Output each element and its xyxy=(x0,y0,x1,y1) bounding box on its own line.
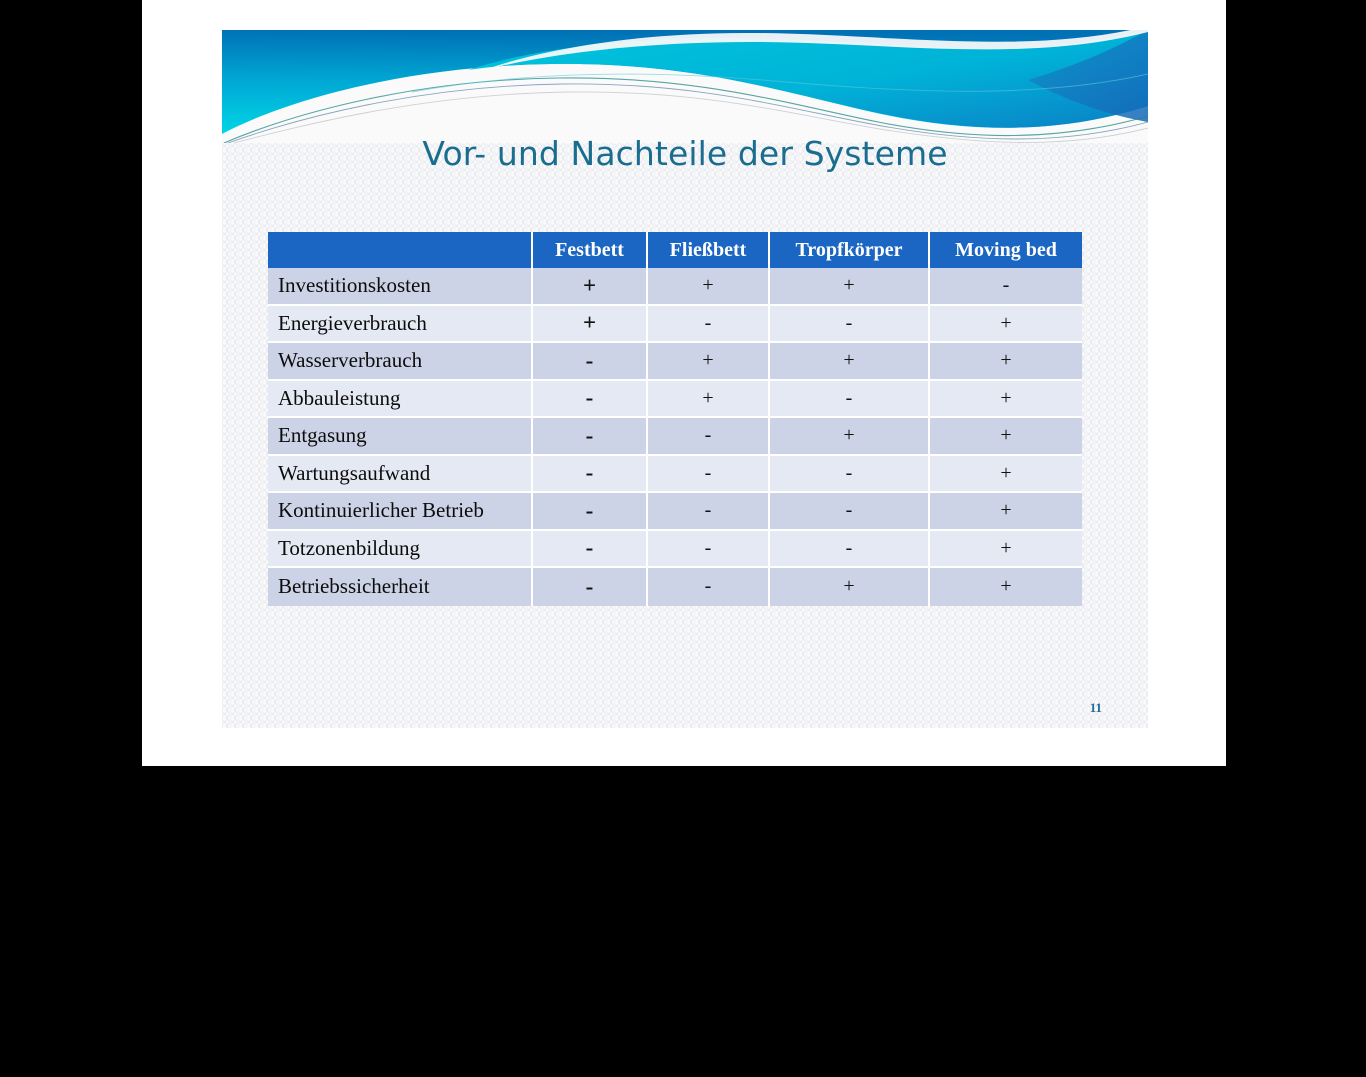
cell-tropfkoerper: - xyxy=(770,381,930,419)
header-wave-decoration xyxy=(222,30,1148,143)
cell-movingbed: + xyxy=(930,493,1082,531)
cell-tropfkoerper: + xyxy=(770,418,930,456)
cell-tropfkoerper: - xyxy=(770,456,930,494)
cell-movingbed: + xyxy=(930,568,1082,606)
cell-movingbed: + xyxy=(930,381,1082,419)
table-row: Wartungsaufwand - - - + xyxy=(268,456,1082,494)
row-label: Entgasung xyxy=(268,418,533,456)
row-label: Betriebssicherheit xyxy=(268,568,533,606)
cell-festbett: - xyxy=(533,343,648,381)
row-label: Abbauleistung xyxy=(268,381,533,419)
cell-tropfkoerper: - xyxy=(770,531,930,569)
table-row: Wasserverbrauch - + + + xyxy=(268,343,1082,381)
row-label: Wasserverbrauch xyxy=(268,343,533,381)
cell-movingbed: + xyxy=(930,418,1082,456)
row-label: Kontinuierlicher Betrieb xyxy=(268,493,533,531)
cell-fliessbett: + xyxy=(648,343,770,381)
cell-festbett: - xyxy=(533,531,648,569)
systems-comparison-table: Festbett Fließbett Tropfkörper Moving be… xyxy=(268,232,1082,606)
cell-festbett: - xyxy=(533,381,648,419)
cell-festbett: - xyxy=(533,418,648,456)
column-header-fliessbett: Fließbett xyxy=(648,232,770,268)
cell-fliessbett: + xyxy=(648,268,770,306)
row-label: Investitionskosten xyxy=(268,268,533,306)
cell-fliessbett: - xyxy=(648,531,770,569)
cell-festbett: + xyxy=(533,306,648,344)
table-header-row: Festbett Fließbett Tropfkörper Moving be… xyxy=(268,232,1082,268)
cell-festbett: - xyxy=(533,456,648,494)
slide-number: 11 xyxy=(1090,700,1102,716)
slide-paper-frame: Vor- und Nachteile der Systeme Festbett … xyxy=(142,0,1226,766)
column-header-tropfkoerper: Tropfkörper xyxy=(770,232,930,268)
cell-tropfkoerper: - xyxy=(770,493,930,531)
cell-movingbed: + xyxy=(930,306,1082,344)
cell-tropfkoerper: + xyxy=(770,268,930,306)
cell-festbett: - xyxy=(533,493,648,531)
table-row: Abbauleistung - + - + xyxy=(268,381,1082,419)
table-row: Energieverbrauch + - - + xyxy=(268,306,1082,344)
table-row: Betriebssicherheit - - + + xyxy=(268,568,1082,606)
cell-fliessbett: - xyxy=(648,493,770,531)
cell-festbett: - xyxy=(533,568,648,606)
cell-fliessbett: + xyxy=(648,381,770,419)
cell-movingbed: + xyxy=(930,456,1082,494)
cell-tropfkoerper: + xyxy=(770,343,930,381)
table-row: Entgasung - - + + xyxy=(268,418,1082,456)
cell-movingbed: + xyxy=(930,343,1082,381)
table-row: Kontinuierlicher Betrieb - - - + xyxy=(268,493,1082,531)
cell-fliessbett: - xyxy=(648,456,770,494)
cell-movingbed: + xyxy=(930,531,1082,569)
page-title: Vor- und Nachteile der Systeme xyxy=(222,134,1148,173)
cell-tropfkoerper: + xyxy=(770,568,930,606)
cell-fliessbett: - xyxy=(648,568,770,606)
column-header-festbett: Festbett xyxy=(533,232,648,268)
row-label: Energieverbrauch xyxy=(268,306,533,344)
cell-festbett: + xyxy=(533,268,648,306)
column-header-criterion xyxy=(268,232,533,268)
row-label: Wartungsaufwand xyxy=(268,456,533,494)
row-label: Totzonenbildung xyxy=(268,531,533,569)
column-header-movingbed: Moving bed xyxy=(930,232,1082,268)
table-header: Festbett Fließbett Tropfkörper Moving be… xyxy=(268,232,1082,268)
table-body: Investitionskosten + + + - Energieverbra… xyxy=(268,268,1082,606)
presentation-slide: Vor- und Nachteile der Systeme Festbett … xyxy=(222,30,1148,728)
table-row: Investitionskosten + + + - xyxy=(268,268,1082,306)
cell-fliessbett: - xyxy=(648,306,770,344)
cell-fliessbett: - xyxy=(648,418,770,456)
cell-movingbed: - xyxy=(930,268,1082,306)
table-row: Totzonenbildung - - - + xyxy=(268,531,1082,569)
cell-tropfkoerper: - xyxy=(770,306,930,344)
